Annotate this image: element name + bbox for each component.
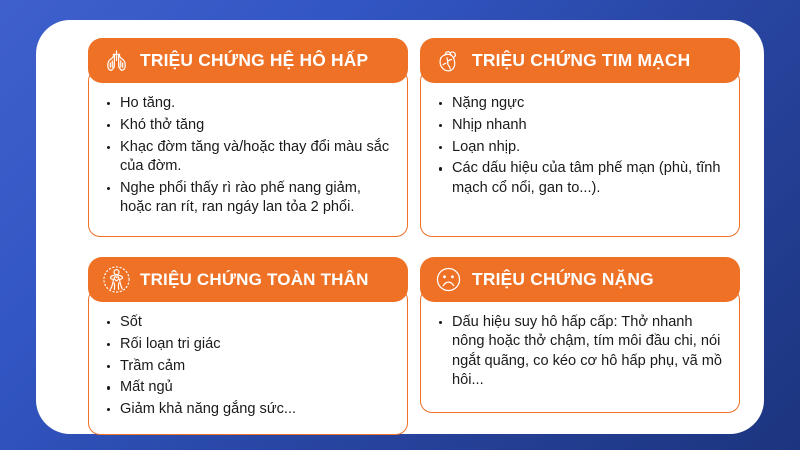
list-item: Dấu hiệu suy hô hấp cấp: Thở nhanh nông … (437, 313, 725, 390)
card-header-systemic: TRIỆU CHỨNG TOÀN THÂN (88, 257, 408, 302)
list-item: Khạc đờm tăng và/hoặc thay đổi màu sắc c… (105, 138, 393, 177)
card-header-cardiac: TRIỆU CHỨNG TIM MẠCH (420, 38, 740, 83)
symptom-card-severe: TRIỆU CHỨNG NẶNG Dấu hiệu suy hô hấp cấp… (420, 257, 740, 435)
symptom-list-systemic: Sốt Rối loạn tri giác Trầm cảm Mất ngủ G… (105, 313, 393, 419)
symptom-list-severe: Dấu hiệu suy hô hấp cấp: Thở nhanh nông … (437, 313, 725, 390)
symptom-card-systemic: TRIỆU CHỨNG TOÀN THÂN Sốt Rối loạn tri g… (88, 257, 408, 435)
heart-anatomical-icon (433, 45, 464, 76)
list-item: Ho tăng. (105, 94, 393, 113)
card-body-systemic: Sốt Rối loạn tri giác Trầm cảm Mất ngủ G… (88, 288, 408, 435)
list-item: Rối loạn tri giác (105, 335, 393, 354)
body-figure-icon (101, 264, 132, 295)
list-item: Nghe phổi thấy rì rào phế nang giảm, hoặ… (105, 179, 393, 218)
list-item: Trầm cảm (105, 357, 393, 376)
symptom-list-cardiac: Nặng ngực Nhịp nhanh Loạn nhịp. Các dấu … (437, 94, 725, 198)
list-item: Loạn nhịp. (437, 138, 725, 157)
card-header-severe: TRIỆU CHỨNG NẶNG (420, 257, 740, 302)
symptom-card-respiratory: TRIỆU CHỨNG HỆ HÔ HẤP Ho tăng. Khó thở t… (88, 38, 408, 237)
card-title-severe: TRIỆU CHỨNG NẶNG (472, 271, 654, 288)
card-title-cardiac: TRIỆU CHỨNG TIM MẠCH (472, 52, 690, 69)
lungs-icon (101, 45, 132, 76)
list-item: Khó thở tăng (105, 116, 393, 135)
symptom-list-respiratory: Ho tăng. Khó thở tăng Khạc đờm tăng và/h… (105, 94, 393, 217)
sad-face-icon (433, 264, 464, 295)
card-header-respiratory: TRIỆU CHỨNG HỆ HÔ HẤP (88, 38, 408, 83)
list-item: Các dấu hiệu của tâm phế mạn (phù, tĩnh … (437, 159, 725, 198)
card-body-cardiac: Nặng ngực Nhịp nhanh Loạn nhịp. Các dấu … (420, 69, 740, 237)
symptom-cards-grid: TRIỆU CHỨNG HỆ HÔ HẤP Ho tăng. Khó thở t… (88, 38, 708, 402)
card-title-systemic: TRIỆU CHỨNG TOÀN THÂN (140, 271, 369, 288)
card-title-respiratory: TRIỆU CHỨNG HỆ HÔ HẤP (140, 52, 368, 69)
card-body-severe: Dấu hiệu suy hô hấp cấp: Thở nhanh nông … (420, 288, 740, 413)
symptom-card-cardiac: TRIỆU CHỨNG TIM MẠCH Nặng ngực Nhịp nhan… (420, 38, 740, 237)
list-item: Mất ngủ (105, 378, 393, 397)
list-item: Nhịp nhanh (437, 116, 725, 135)
card-body-respiratory: Ho tăng. Khó thở tăng Khạc đờm tăng và/h… (88, 69, 408, 237)
list-item: Giảm khả năng gắng sức... (105, 400, 393, 419)
list-item: Nặng ngực (437, 94, 725, 113)
list-item: Sốt (105, 313, 393, 332)
